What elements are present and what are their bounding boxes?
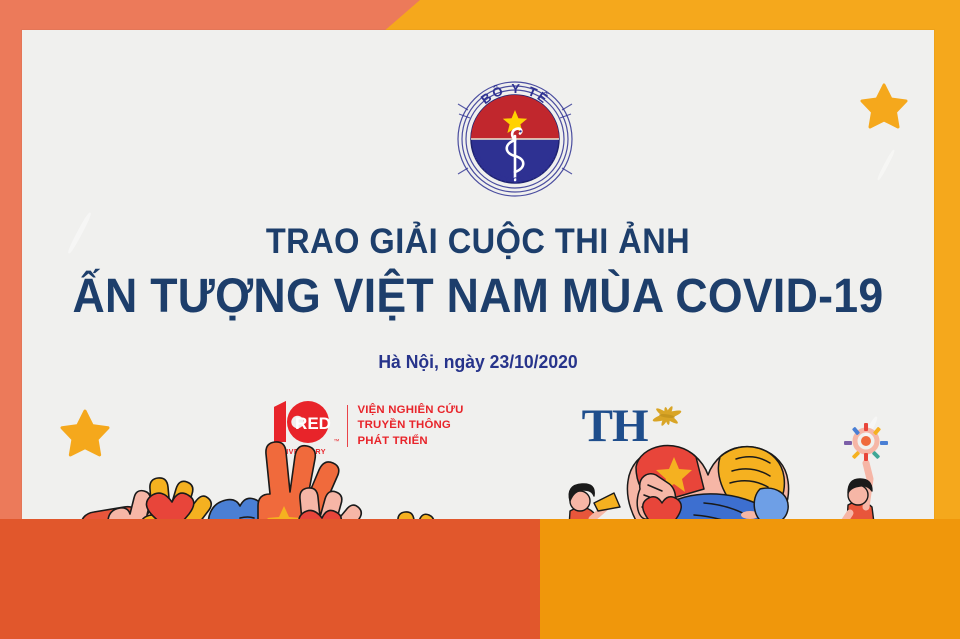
headline-line-1: TRAO GIẢI CUỘC THI ẢNH (54, 222, 902, 262)
poster-canvas: BỘ Y TẾ MINISTRY OF HEALTH TRAO GIẢI CUỘ… (0, 0, 960, 639)
headline-line-2: ẤN TƯỢNG VIỆT NAM MÙA COVID-19 (54, 269, 902, 324)
star-top-right-icon (860, 82, 908, 130)
ministry-of-health-logo: BỘ Y TẾ MINISTRY OF HEALTH (456, 74, 574, 204)
paper-streak-2 (876, 149, 895, 181)
dateline: Hà Nội, ngày 23/10/2020 (45, 351, 911, 373)
ground-band-left (0, 519, 620, 639)
ground-band-right (540, 519, 960, 639)
virus-icon (844, 423, 888, 461)
headline-block: TRAO GIẢI CUỘC THI ẢNH ẤN TƯỢNG VIỆT NAM… (22, 222, 934, 373)
